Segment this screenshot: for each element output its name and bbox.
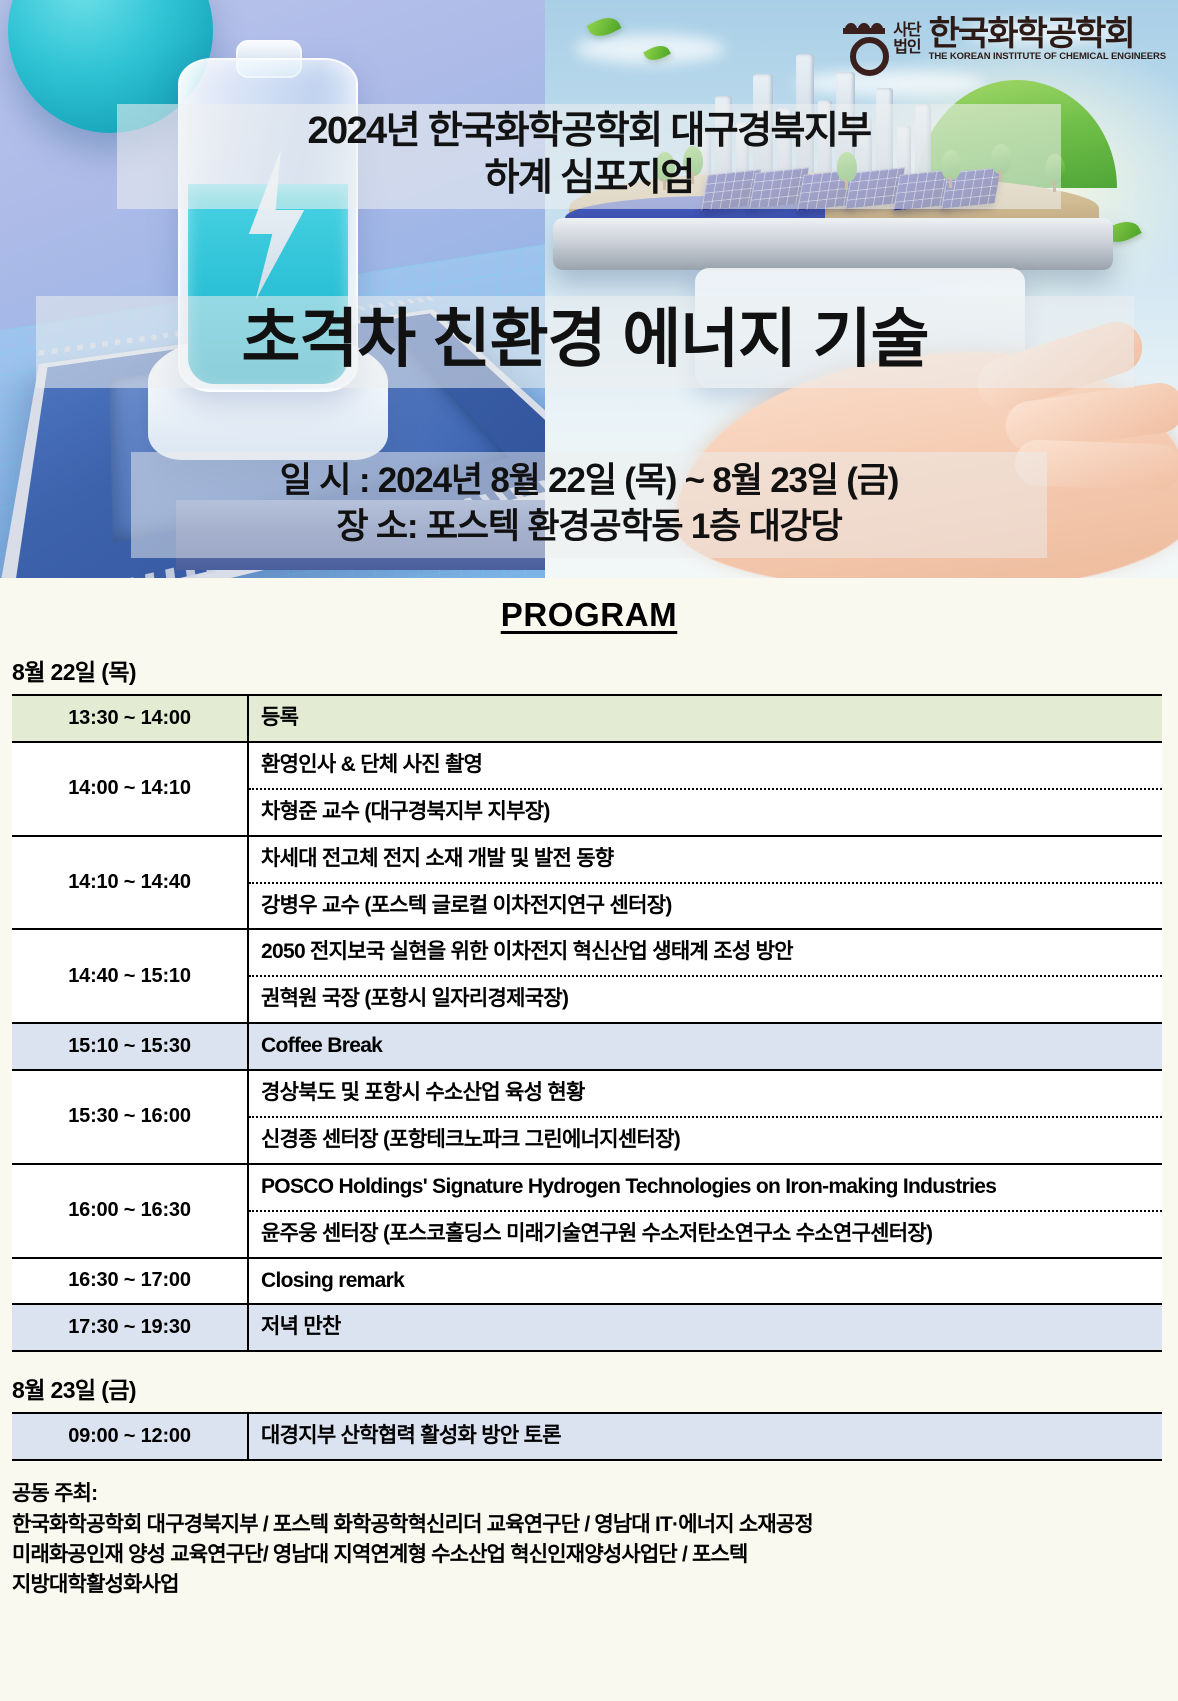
day2-schedule-table: 09:00 ~ 12:00대경지부 산학협력 활성화 방안 토론 xyxy=(12,1412,1162,1461)
table-row: 17:30 ~ 19:30저녁 만찬 xyxy=(12,1304,1162,1351)
schedule-time-cell: 15:10 ~ 15:30 xyxy=(12,1023,248,1070)
co-hosts-line1: 한국화학공학회 대구경북지부 / 포스텍 화학공학혁신리더 교육연구단 / 영남… xyxy=(12,1510,1166,1540)
poster-event-info: 일 시 : 2024년 8월 22일 (목) ~ 8월 23일 (금) 장 소:… xyxy=(131,452,1047,558)
schedule-time-cell: 09:00 ~ 12:00 xyxy=(12,1413,248,1460)
session-title: 저녁 만찬 xyxy=(249,1305,1162,1350)
poster-date-line: 일 시 : 2024년 8월 22일 (목) ~ 8월 23일 (금) xyxy=(131,458,1047,504)
session-speaker: 권혁원 국장 (포항시 일자리경제국장) xyxy=(249,977,1162,1022)
co-hosts-block: 공동 주최: 한국화학공학회 대구경북지부 / 포스텍 화학공학혁신리더 교육연… xyxy=(12,1479,1166,1599)
program-section: PROGRAM 8월 22일 (목) 13:30 ~ 14:00등록14:00 … xyxy=(0,578,1178,1701)
program-heading: PROGRAM xyxy=(0,578,1178,634)
poster-hero: 사단 법인 한국화학공학회 THE KOREAN INSTITUTE OF CH… xyxy=(0,0,1178,578)
logo-sadan-line2: 법인 xyxy=(893,40,920,57)
poster-title-line2: 하계 심포지엄 xyxy=(117,155,1061,202)
schedule-detail-cell: 저녁 만찬 xyxy=(248,1304,1162,1351)
poster-place-line: 장 소: 포스텍 환경공학동 1층 대강당 xyxy=(131,504,1047,550)
day1-schedule-table: 13:30 ~ 14:00등록14:00 ~ 14:10환영인사 & 단체 사진… xyxy=(12,694,1162,1352)
session-speaker: 신경종 센터장 (포항테크노파크 그린에너지센터장) xyxy=(249,1118,1162,1163)
poster-title: 2024년 한국화학공학회 대구경북지부 하계 심포지엄 xyxy=(117,104,1061,209)
schedule-detail-cell: 경상북도 및 포항시 수소산업 육성 현황신경종 센터장 (포항테크노파크 그린… xyxy=(248,1070,1162,1164)
schedule-time-cell: 14:10 ~ 14:40 xyxy=(12,836,248,930)
schedule-time-cell: 14:40 ~ 15:10 xyxy=(12,929,248,1023)
logo-wordmark: 한국화학공학회 THE KOREAN INSTITUTE OF CHEMICAL… xyxy=(929,18,1166,62)
session-title: 대경지부 산학협력 활성화 방안 토론 xyxy=(249,1414,1162,1459)
session-title: Closing remark xyxy=(249,1259,1162,1304)
logo-sadan-line1: 사단 xyxy=(893,23,920,40)
schedule-time-cell: 16:00 ~ 16:30 xyxy=(12,1164,248,1258)
schedule-detail-cell: 차세대 전고체 전지 소재 개발 및 발전 동향강병우 교수 (포스텍 글로컬 … xyxy=(248,836,1162,930)
session-title: 등록 xyxy=(249,696,1162,741)
table-row: 14:40 ~ 15:102050 전지보국 실현을 위한 이차전지 혁신산업 … xyxy=(12,929,1162,1023)
schedule-time-cell: 13:30 ~ 14:00 xyxy=(12,695,248,742)
logo-korean-name: 한국화학공학회 xyxy=(929,18,1134,50)
schedule-time-cell: 14:00 ~ 14:10 xyxy=(12,742,248,836)
schedule-detail-cell: 대경지부 산학협력 활성화 방안 토론 xyxy=(248,1413,1162,1460)
schedule-detail-cell: 환영인사 & 단체 사진 촬영차형준 교수 (대구경북지부 지부장) xyxy=(248,742,1162,836)
schedule-time-cell: 15:30 ~ 16:00 xyxy=(12,1070,248,1164)
logo-corporation-label: 사단 법인 xyxy=(893,23,920,57)
session-title: 경상북도 및 포항시 수소산업 육성 현황 xyxy=(249,1071,1162,1118)
session-speaker: 윤주웅 센터장 (포스코홀딩스 미래기술연구원 수소저탄소연구소 수소연구센터장… xyxy=(249,1212,1162,1257)
day1-label: 8월 22일 (목) xyxy=(12,653,1178,687)
session-title: 환영인사 & 단체 사진 촬영 xyxy=(249,743,1162,790)
table-row: 15:30 ~ 16:00경상북도 및 포항시 수소산업 육성 현황신경종 센터… xyxy=(12,1070,1162,1164)
schedule-detail-cell: Coffee Break xyxy=(248,1023,1162,1070)
schedule-detail-cell: POSCO Holdings' Signature Hydrogen Techn… xyxy=(248,1164,1162,1258)
session-speaker: 강병우 교수 (포스텍 글로컬 이차전지연구 센터장) xyxy=(249,884,1162,929)
kiche-emblem-icon xyxy=(843,14,885,66)
poster-subtitle: 초격차 친환경 에너지 기술 xyxy=(36,296,1134,388)
poster-subtitle-text: 초격차 친환경 에너지 기술 xyxy=(36,302,1134,378)
table-row: 16:00 ~ 16:30POSCO Holdings' Signature H… xyxy=(12,1164,1162,1258)
kiche-logo: 사단 법인 한국화학공학회 THE KOREAN INSTITUTE OF CH… xyxy=(843,14,1166,66)
session-title: Coffee Break xyxy=(249,1024,1162,1069)
session-title: 차세대 전고체 전지 소재 개발 및 발전 동향 xyxy=(249,837,1162,884)
co-hosts-line2: 미래화공인재 양성 교육연구단/ 영남대 지역연계형 수소산업 혁신인재양성사업… xyxy=(12,1540,1166,1570)
schedule-detail-cell: 등록 xyxy=(248,695,1162,742)
table-row: 13:30 ~ 14:00등록 xyxy=(12,695,1162,742)
co-hosts-header: 공동 주최: xyxy=(12,1479,1166,1509)
session-title: POSCO Holdings' Signature Hydrogen Techn… xyxy=(249,1165,1162,1212)
schedule-time-cell: 17:30 ~ 19:30 xyxy=(12,1304,248,1351)
poster-title-line1: 2024년 한국화학공학회 대구경북지부 xyxy=(117,108,1061,155)
day2-label: 8월 23일 (금) xyxy=(12,1371,1178,1405)
table-row: 15:10 ~ 15:30Coffee Break xyxy=(12,1023,1162,1070)
logo-english-name: THE KOREAN INSTITUTE OF CHEMICAL ENGINEE… xyxy=(929,51,1166,62)
co-hosts-line3: 지방대학활성화사업 xyxy=(12,1570,1166,1600)
table-row: 14:10 ~ 14:40차세대 전고체 전지 소재 개발 및 발전 동향강병우… xyxy=(12,836,1162,930)
schedule-detail-cell: Closing remark xyxy=(248,1258,1162,1305)
table-row: 16:30 ~ 17:00Closing remark xyxy=(12,1258,1162,1305)
session-title: 2050 전지보국 실현을 위한 이차전지 혁신산업 생태계 조성 방안 xyxy=(249,930,1162,977)
table-row: 14:00 ~ 14:10환영인사 & 단체 사진 촬영차형준 교수 (대구경북… xyxy=(12,742,1162,836)
schedule-detail-cell: 2050 전지보국 실현을 위한 이차전지 혁신산업 생태계 조성 방안권혁원 … xyxy=(248,929,1162,1023)
session-speaker: 차형준 교수 (대구경북지부 지부장) xyxy=(249,790,1162,835)
floating-platform-graphic xyxy=(553,218,1113,270)
schedule-time-cell: 16:30 ~ 17:00 xyxy=(12,1258,248,1305)
table-row: 09:00 ~ 12:00대경지부 산학협력 활성화 방안 토론 xyxy=(12,1413,1162,1460)
